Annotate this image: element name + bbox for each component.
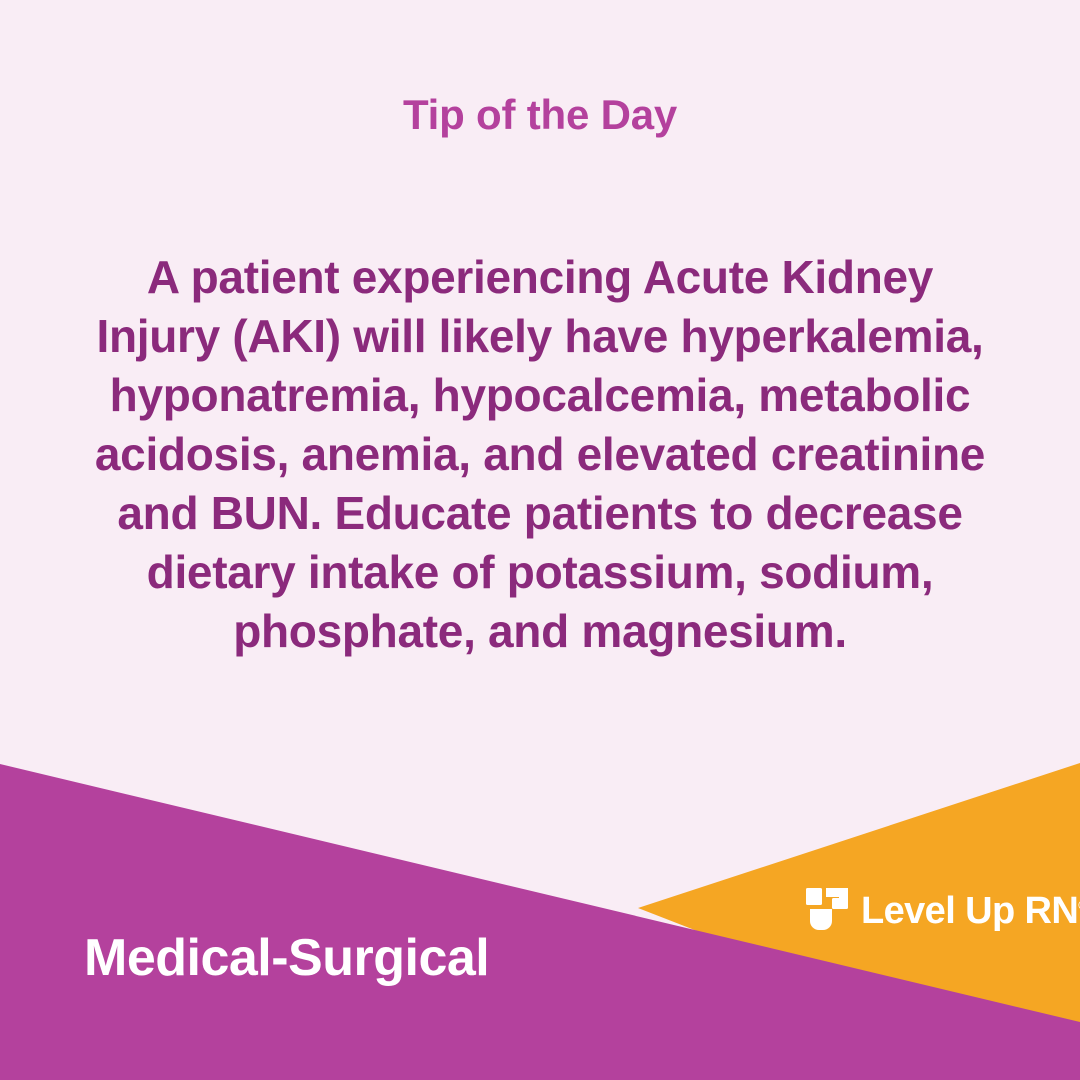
- tip-body-text: A patient experiencing Acute Kidney Inju…: [88, 248, 992, 661]
- levelup-square-mark-icon: [806, 888, 848, 934]
- brand-name: Level Up RN: [861, 890, 1078, 932]
- tip-of-the-day-card: Tip of the Day A patient experiencing Ac…: [0, 0, 1080, 1080]
- brand-wordmark: Level Up RN®: [861, 892, 1080, 930]
- category-label: Medical-Surgical: [84, 932, 489, 984]
- page-title: Tip of the Day: [0, 92, 1080, 138]
- brand-logo[interactable]: Level Up RN®: [806, 884, 1080, 938]
